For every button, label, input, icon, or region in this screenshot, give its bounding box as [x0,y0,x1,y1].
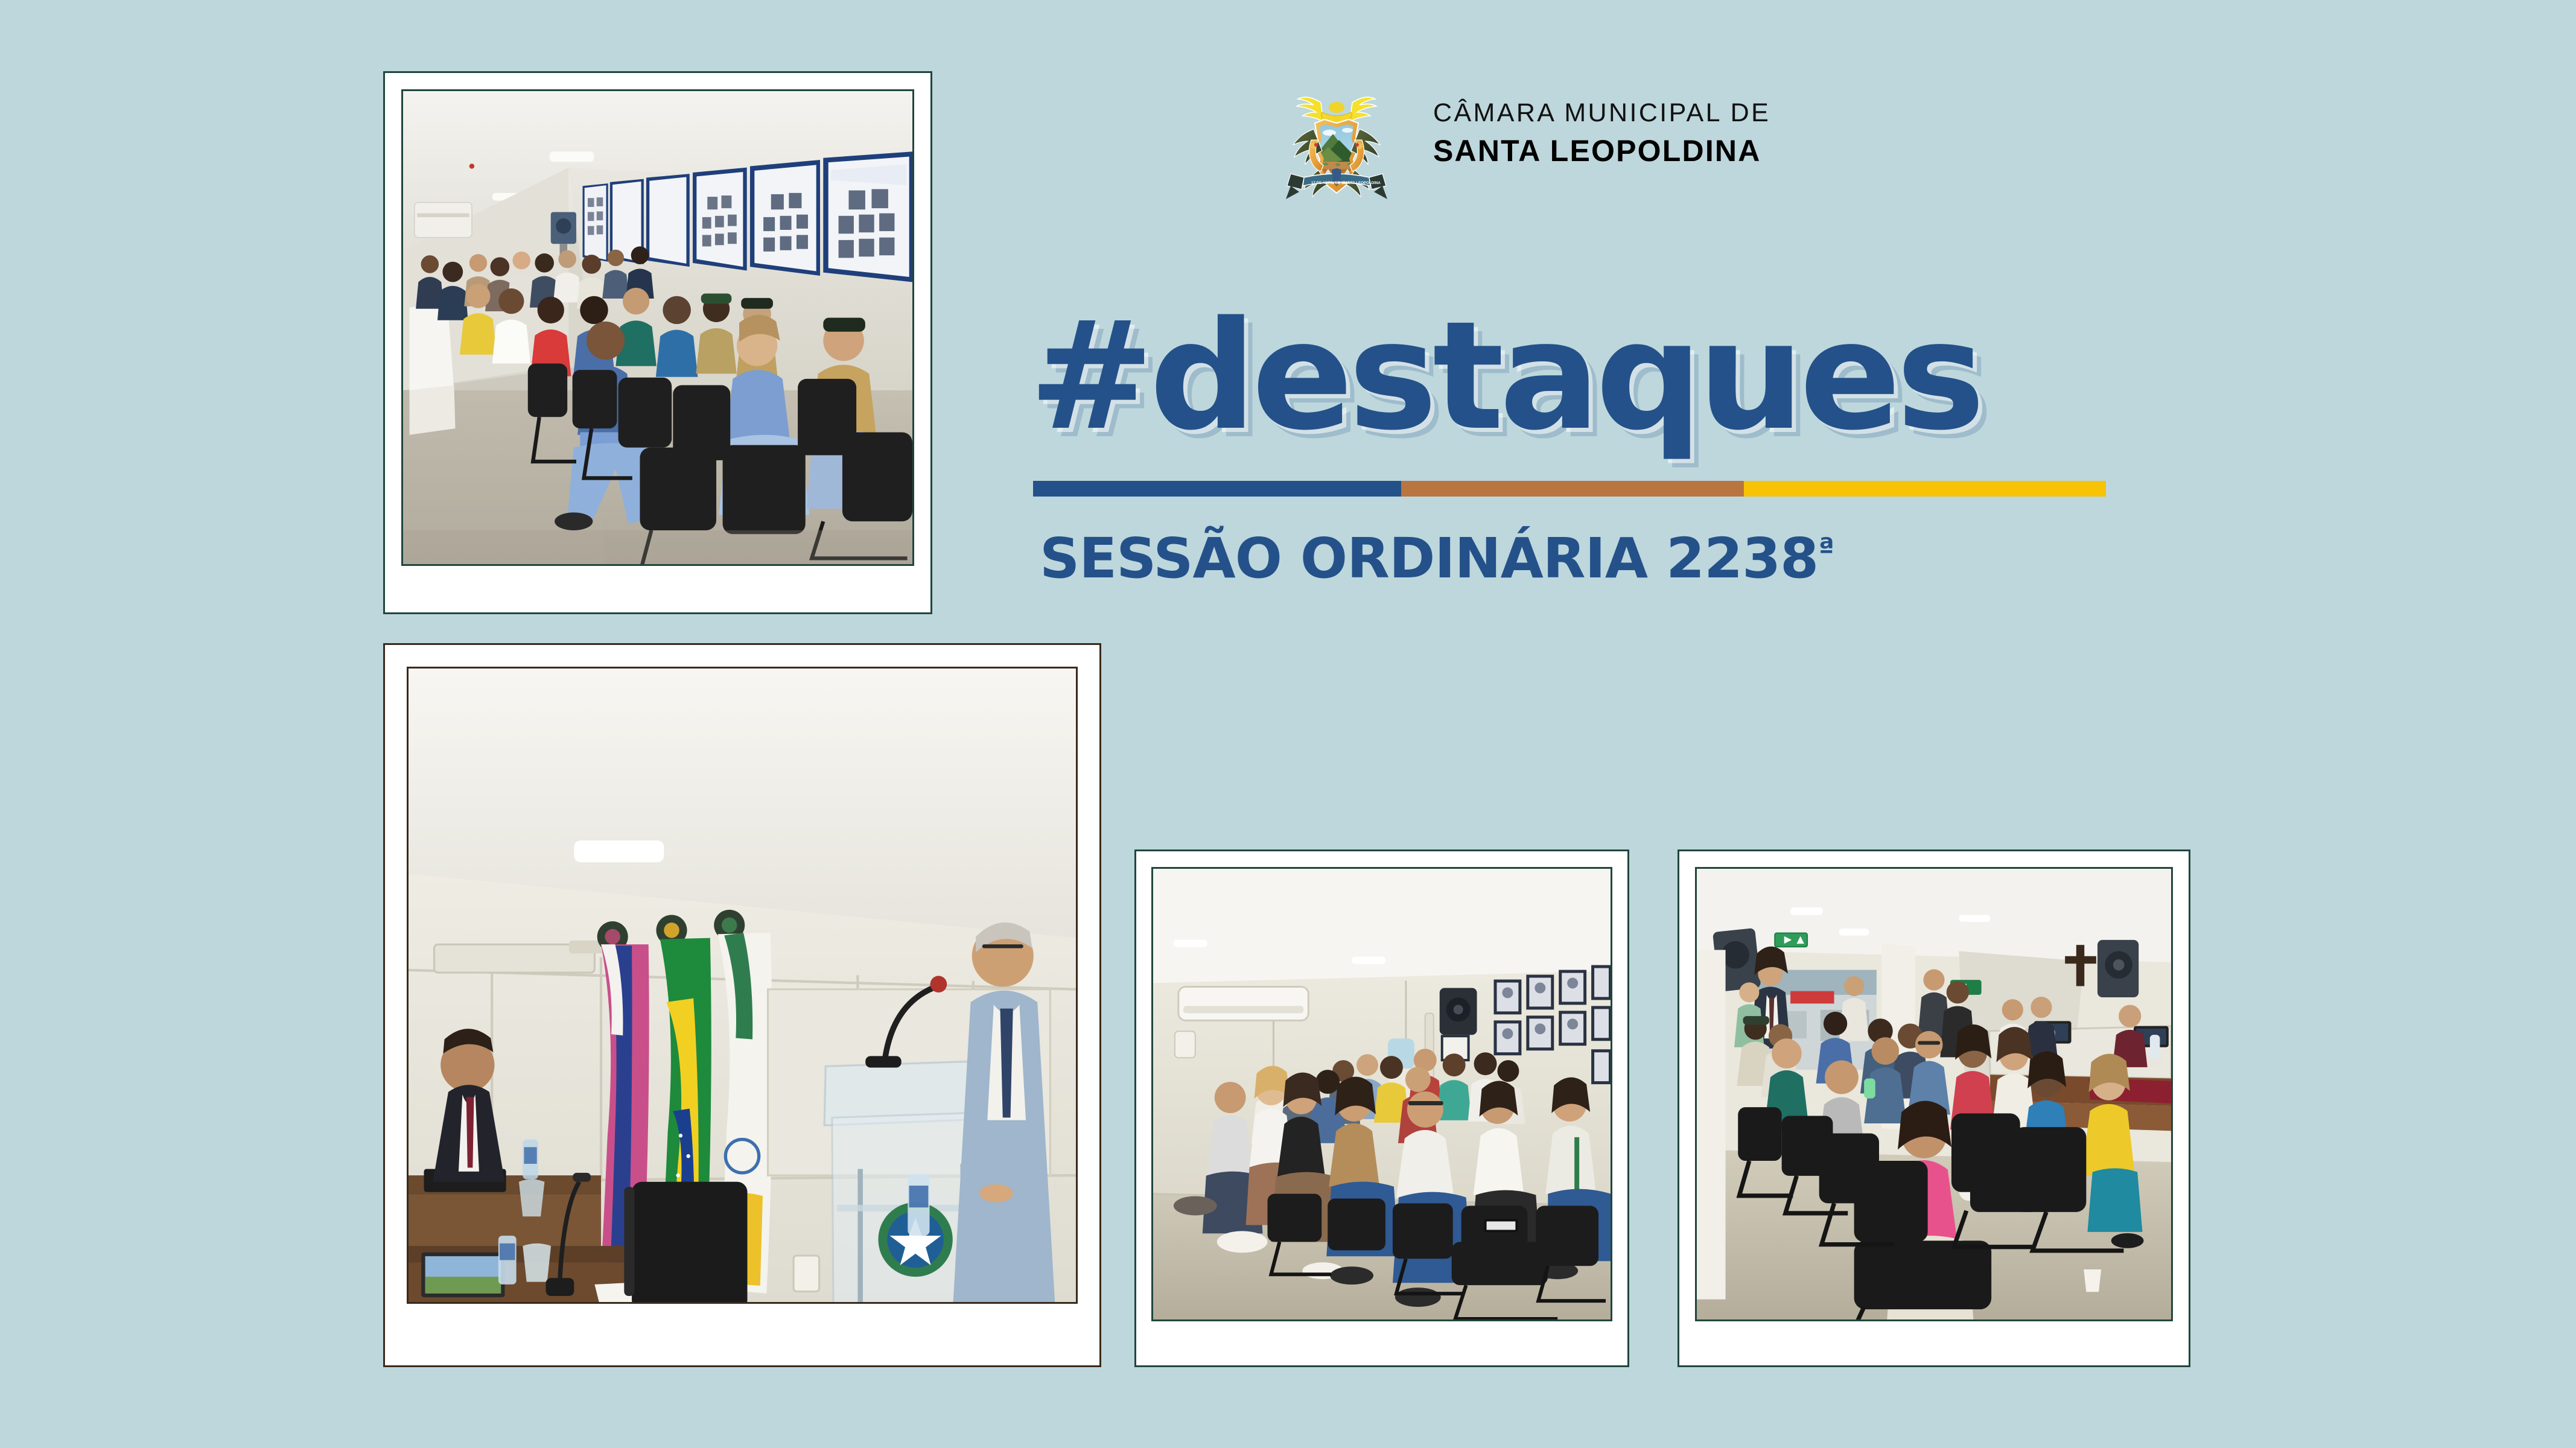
brand-line-santa-leopoldina: SANTA LEOPOLDINA [1433,136,1868,166]
photo-4-artwork [1697,869,2171,1321]
brand-line-camara-municipal: CÂMARA MUNICIPAL DE [1433,100,1868,126]
tricolor-rule-bar [1033,481,2106,497]
photo-1-artwork [403,91,912,566]
brand-lockup: 17 DE ABRIL DE 1887 SANTA LEOPOLDINA CÂM… [1258,84,1874,199]
photo-speaker-at-podium [407,667,1078,1304]
crest-ribbon-right: SANTA LEOPOLDINA [1343,181,1381,185]
hashtag-destaques-title: #destaques [1029,302,2115,451]
poster-canvas: 17 DE ABRIL DE 1887 SANTA LEOPOLDINA CÂM… [0,0,2576,1448]
coat-of-arms-santa-leopoldina-icon: 17 DE ABRIL DE 1887 SANTA LEOPOLDINA [1258,84,1415,199]
session-ordinal-suffix: ª [1818,532,1834,565]
photo-frame-audience-plenary [383,71,932,614]
session-subtitle: SESSÃO ORDINÁRIA 2238ª [1040,526,1834,591]
photo-3-artwork [1153,869,1611,1321]
rule-segment-yellow [1744,481,2106,497]
photo-frame-speaker-podium [383,643,1101,1367]
rule-segment-blue [1033,481,1401,497]
photo-audience-wide-hall-cross [1695,867,2173,1321]
title-block: #destaques SESSÃO ORDINÁRIA 2238ª [1029,302,2115,603]
photo-frame-audience-ac-room [1134,849,1629,1367]
photo-audience-air-conditioner-room [1151,867,1612,1321]
brand-text: CÂMARA MUNICIPAL DE SANTA LEOPOLDINA [1433,100,1868,166]
photo-audience-plenary-wall-portraits [401,89,914,566]
photo-frame-audience-wide-hall [1678,849,2190,1367]
session-subtitle-text: SESSÃO ORDINÁRIA 2238 [1040,526,1818,591]
photo-2-artwork [409,668,1076,1304]
rule-segment-orange [1401,481,1744,497]
